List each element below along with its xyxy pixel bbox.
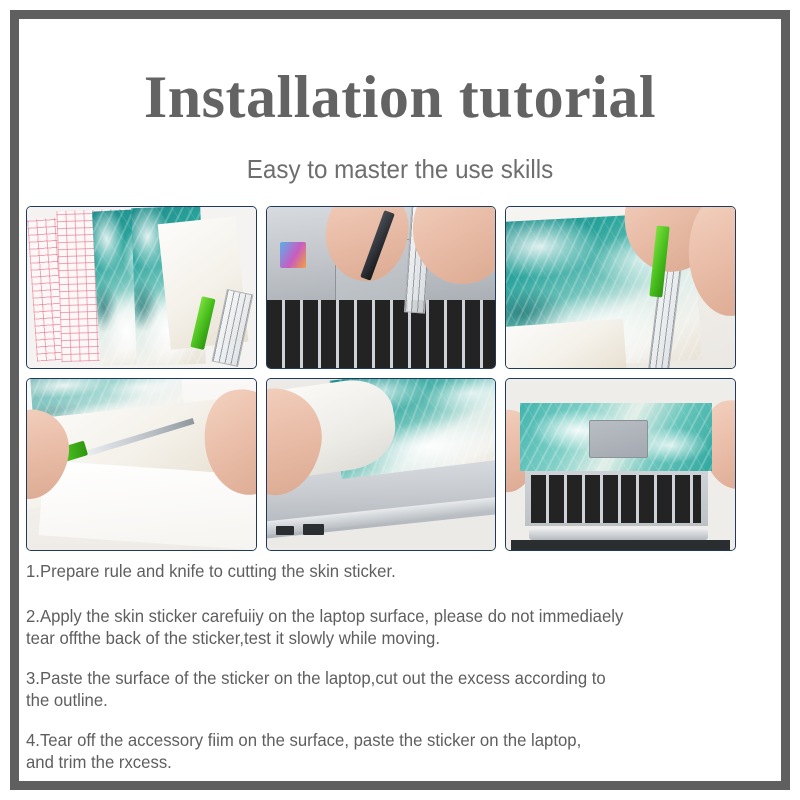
tutorial-step-image-5[interactable]: Hand smoothing the teal skin sticker ont…	[266, 378, 497, 551]
tutorial-step-image-2[interactable]: Two hands measuring the laptop palm rest…	[266, 206, 497, 369]
page-subtitle: Easy to master the use skills	[46, 153, 755, 185]
photo-apply	[267, 379, 496, 550]
tutorial-step-image-3[interactable]: Hand trimming the teal marble skin stick…	[505, 206, 736, 369]
tutorial-step-image-6[interactable]: Finished teal marble palm-rest skin appl…	[505, 378, 736, 551]
tutorial-page: Installation tutorial Easy to master the…	[0, 0, 800, 800]
tutorial-step-image-4[interactable]: Hands peeling the paper backing away fro…	[26, 378, 257, 551]
photo-materials	[27, 207, 256, 368]
photo-cut	[506, 207, 735, 368]
instruction-list: 1.Prepare rule and knife to cutting the …	[26, 560, 738, 773]
instruction-step-2: 2.Apply the skin sticker carefuiiy on th…	[26, 605, 706, 649]
photo-measure	[267, 207, 496, 368]
instruction-step-3: 3.Paste the surface of the sticker on th…	[26, 667, 706, 711]
tutorial-step-image-1[interactable]: Teal marble skin sticker sheets with pin…	[26, 206, 257, 369]
photo-finished	[506, 379, 735, 550]
instruction-step-1: 1.Prepare rule and knife to cutting the …	[26, 560, 706, 582]
tutorial-image-grid: Teal marble skin sticker sheets with pin…	[26, 206, 736, 551]
photo-peel	[27, 379, 256, 550]
page-title: Installation tutorial	[19, 63, 781, 131]
instruction-step-4: 4.Tear off the accessory fiim on the sur…	[26, 729, 706, 773]
